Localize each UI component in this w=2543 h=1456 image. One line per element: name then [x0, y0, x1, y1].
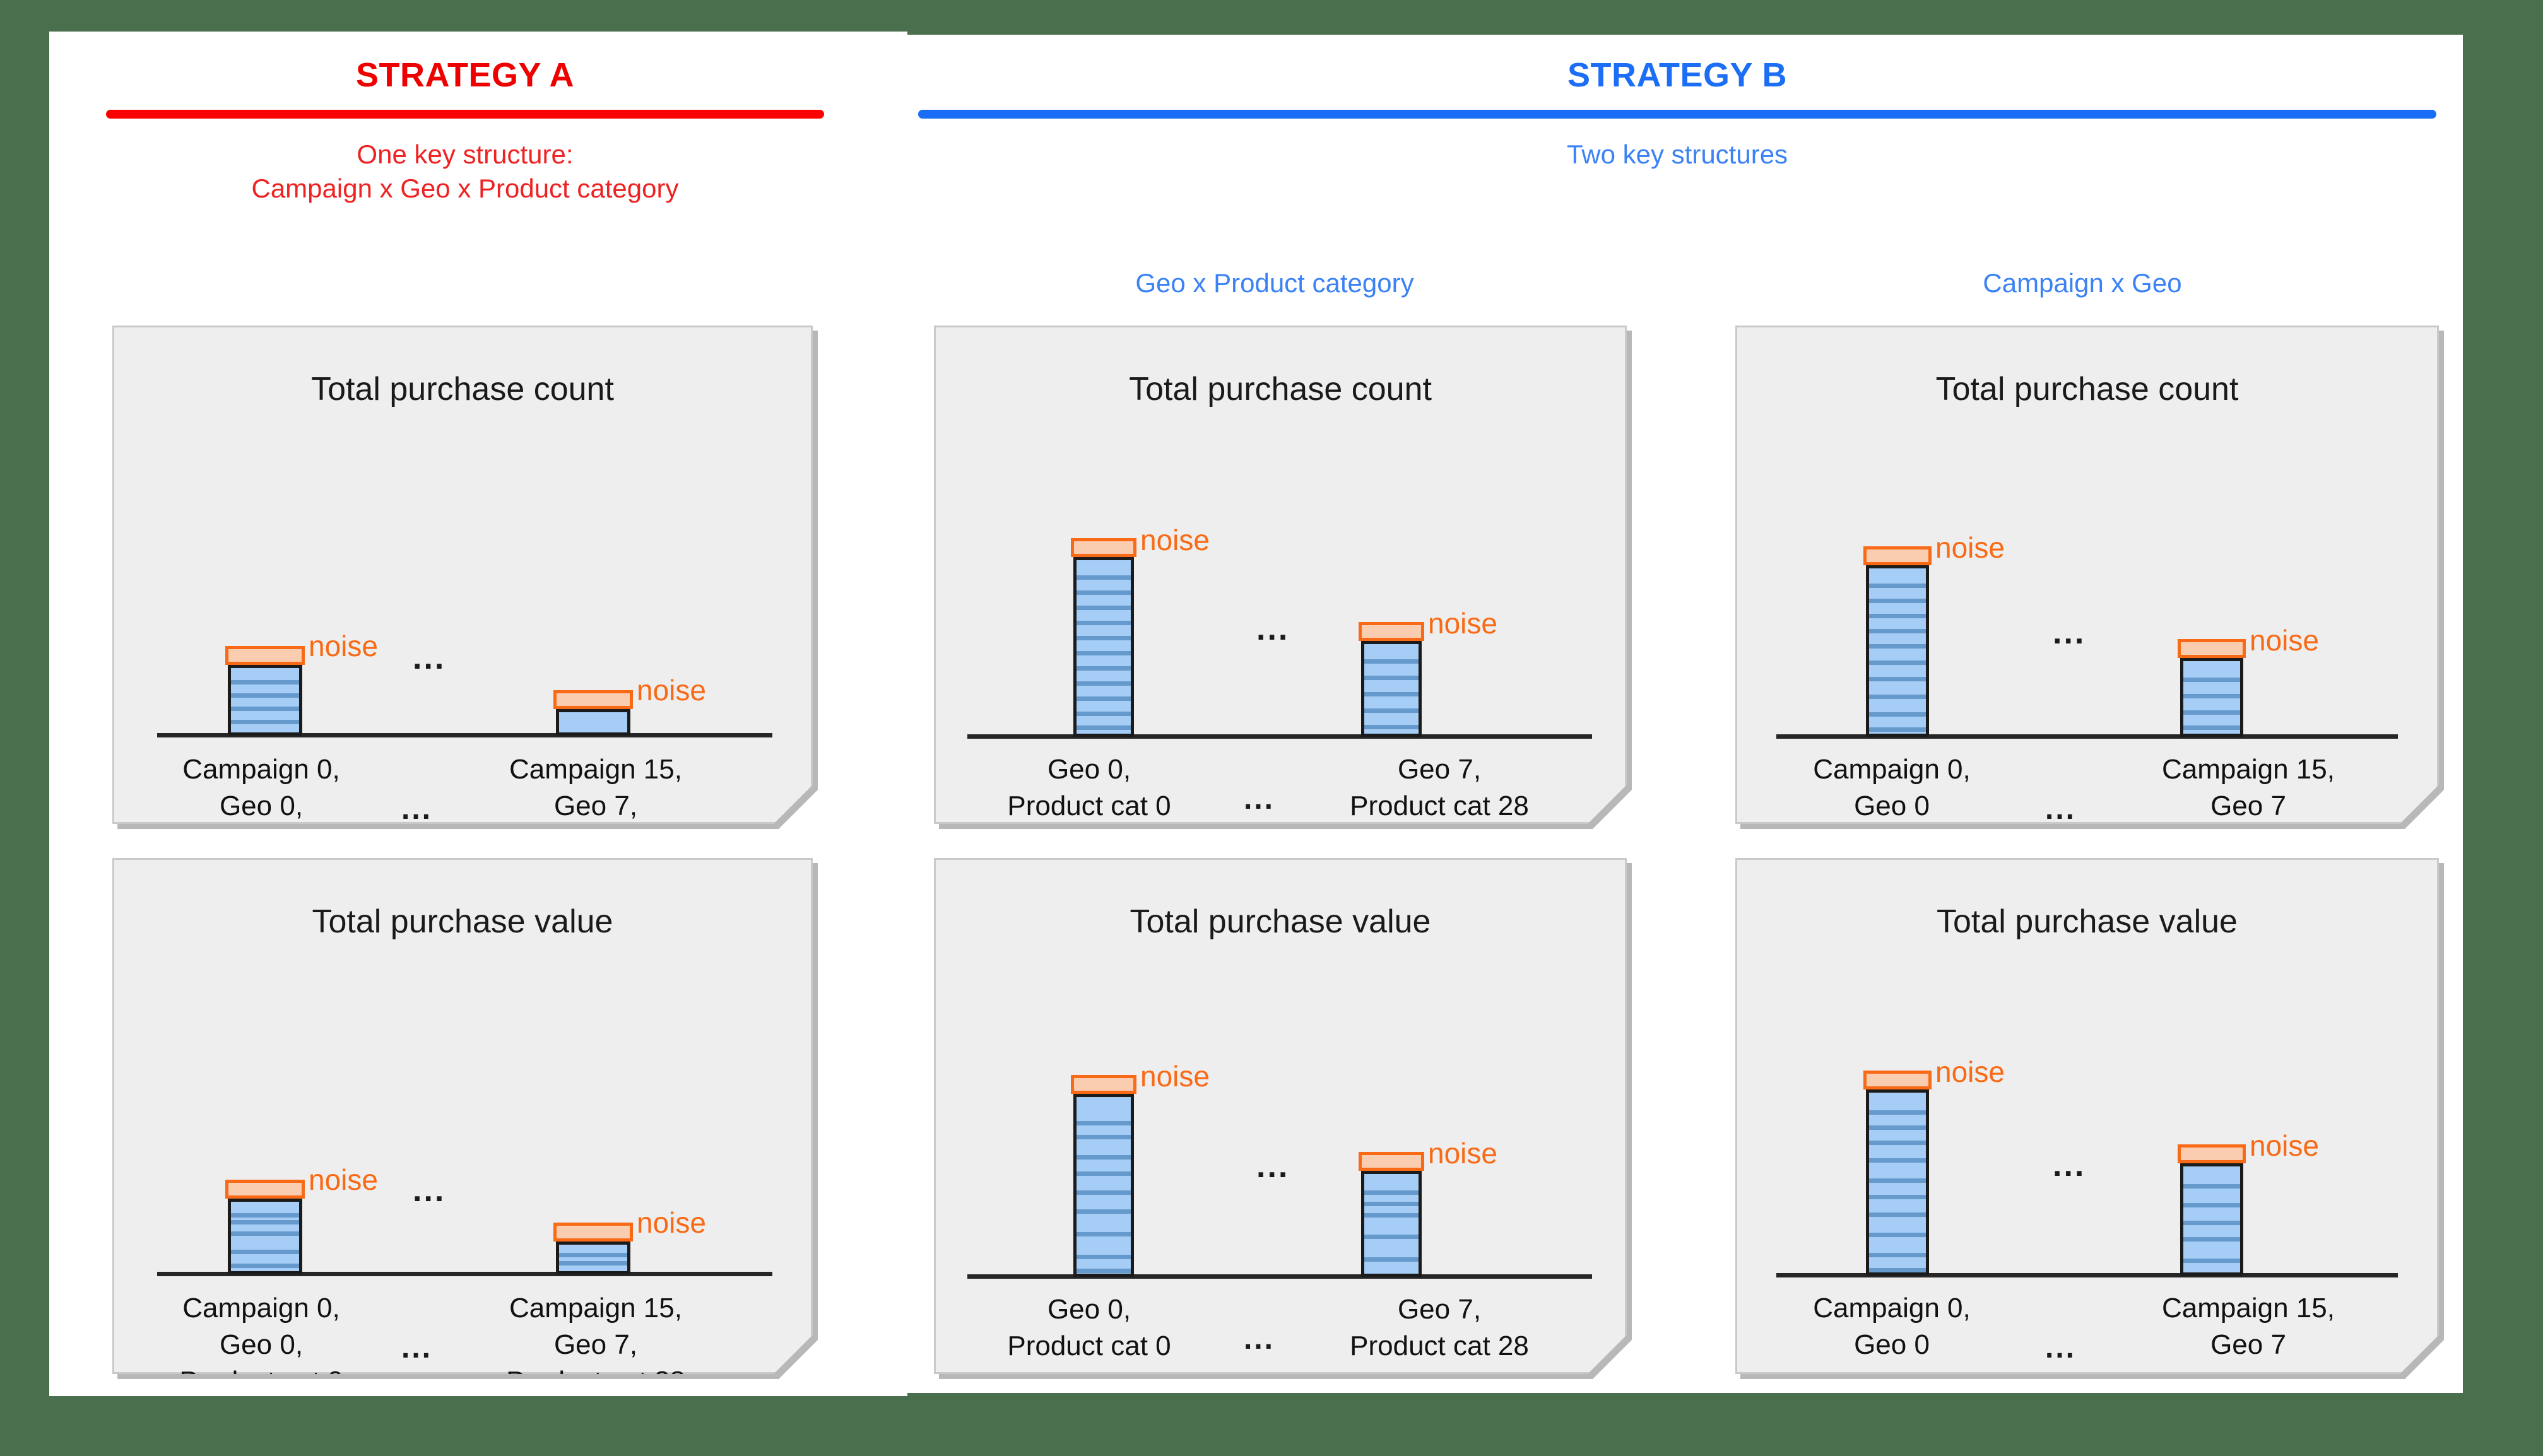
bar-noise	[2178, 639, 2246, 658]
structure-label-geo-product: Geo x Product category	[934, 270, 1615, 296]
card-a-purchase-value: Total purchase value noise ... noise Cam…	[112, 858, 813, 1374]
bar-noise	[225, 1180, 305, 1199]
card-title: Total purchase value	[114, 905, 811, 938]
bar-caption: Campaign 0, Geo 0	[1756, 1290, 2027, 1363]
strategy-b-rule	[918, 110, 2436, 119]
bar-signal	[1073, 557, 1134, 737]
plot-area: noise ... noise	[967, 1019, 1592, 1279]
noise-label: noise	[2250, 1131, 2319, 1160]
bar-signal	[2180, 1163, 2243, 1276]
noise-label: noise	[309, 631, 378, 660]
strategy-a-title: STRATEGY A	[106, 58, 824, 92]
bar-caption: Geo 7, Product cat 28	[1294, 1291, 1584, 1365]
bar-noise	[553, 1223, 633, 1242]
strategy-b-subtitle: Two key structures	[918, 138, 2436, 172]
noise-label: noise	[2250, 626, 2319, 655]
plot-area: noise ... noise	[157, 592, 772, 737]
noise-label: noise	[309, 1165, 378, 1194]
axis-line	[967, 734, 1592, 739]
noise-label: noise	[1140, 525, 1210, 555]
bar-signal	[1361, 1171, 1422, 1277]
bar-noise	[1863, 1071, 1932, 1089]
bar-signal	[2180, 658, 2243, 737]
noise-label: noise	[637, 676, 706, 705]
card-b1-purchase-value: Total purchase value noise ... noise Geo…	[934, 858, 1627, 1374]
ellipsis-between-bars: ...	[2053, 1149, 2086, 1182]
ellipsis-between-bars: ...	[2053, 616, 2086, 649]
plot-area: noise ... noise	[1776, 1018, 2398, 1277]
bar-signal	[1073, 1094, 1134, 1277]
plot-area: noise ... noise	[1776, 493, 2398, 739]
strategy-a-header: STRATEGY A One key structure: Campaign x…	[106, 58, 824, 206]
card-title: Total purchase value	[936, 905, 1625, 938]
bar-noise	[225, 646, 305, 665]
ellipsis-between-captions: ...	[1244, 784, 1275, 814]
card-title: Total purchase count	[936, 373, 1625, 406]
ellipsis-between-bars: ...	[413, 642, 445, 674]
bar-caption: Geo 7, Product cat 28	[1294, 751, 1584, 825]
ellipsis-between-captions: ...	[1244, 1324, 1275, 1354]
plot-area: noise ... noise	[157, 1131, 772, 1276]
ellipsis-between-captions: ...	[2045, 794, 2076, 825]
strategy-a-rule	[106, 110, 824, 119]
noise-label: noise	[1428, 609, 1497, 638]
bar-caption: Campaign 15, Geo 7	[2109, 751, 2387, 825]
bar-caption: Geo 0, Product cat 0	[953, 751, 1225, 825]
card-a-purchase-count: Total purchase count noise ... noise Cam…	[112, 326, 813, 824]
strategy-a-subtitle: One key structure: Campaign x Geo x Prod…	[106, 138, 824, 206]
noise-label: noise	[637, 1208, 706, 1237]
noise-label: noise	[1428, 1139, 1497, 1168]
card-b1-purchase-count: Total purchase count noise ... nois	[934, 326, 1627, 824]
noise-label: noise	[1935, 533, 2005, 562]
noise-label: noise	[1140, 1062, 1210, 1091]
ellipsis-between-bars: ...	[413, 1174, 445, 1207]
bar-noise	[1359, 622, 1424, 641]
bar-signal	[228, 1199, 302, 1274]
bar-caption: Campaign 0, Geo 0	[1756, 751, 2027, 825]
ellipsis-between-captions: ...	[401, 1333, 432, 1363]
strategy-b-header: STRATEGY B Two key structures	[918, 58, 2436, 172]
bar-noise	[2178, 1144, 2246, 1163]
plot-area: noise ... noise	[967, 485, 1592, 739]
bar-noise	[553, 690, 633, 709]
card-title: Total purchase count	[1737, 373, 2437, 406]
bar-signal	[1361, 641, 1422, 737]
bar-noise	[1359, 1152, 1424, 1171]
structure-label-campaign-geo: Campaign x Geo	[1742, 270, 2423, 296]
bar-caption: Geo 0, Product cat 0	[953, 1291, 1225, 1365]
ellipsis-between-captions: ...	[401, 794, 432, 825]
bar-signal	[1866, 1089, 1929, 1276]
card-title: Total purchase value	[1737, 905, 2437, 938]
bar-noise	[1863, 546, 1932, 565]
bar-caption: Campaign 15, Geo 7	[2109, 1290, 2387, 1363]
bar-signal	[228, 665, 302, 736]
axis-line	[967, 1274, 1592, 1279]
card-title: Total purchase count	[114, 373, 811, 406]
noise-label: noise	[1935, 1057, 2005, 1086]
bar-noise	[1071, 1075, 1136, 1094]
bar-noise	[1071, 538, 1136, 557]
card-b2-purchase-value: Total purchase value noise ... noise	[1735, 858, 2439, 1374]
ellipsis-between-captions: ...	[2045, 1333, 2076, 1363]
ellipsis-between-bars: ...	[1256, 1150, 1289, 1183]
strategy-b-title: STRATEGY B	[918, 58, 2436, 92]
bar-signal	[556, 709, 630, 736]
bar-signal	[556, 1242, 630, 1274]
bar-signal	[1866, 565, 1929, 737]
card-b2-purchase-count: Total purchase count noise ... noise Cam…	[1735, 326, 2439, 824]
ellipsis-between-bars: ...	[1256, 613, 1289, 645]
